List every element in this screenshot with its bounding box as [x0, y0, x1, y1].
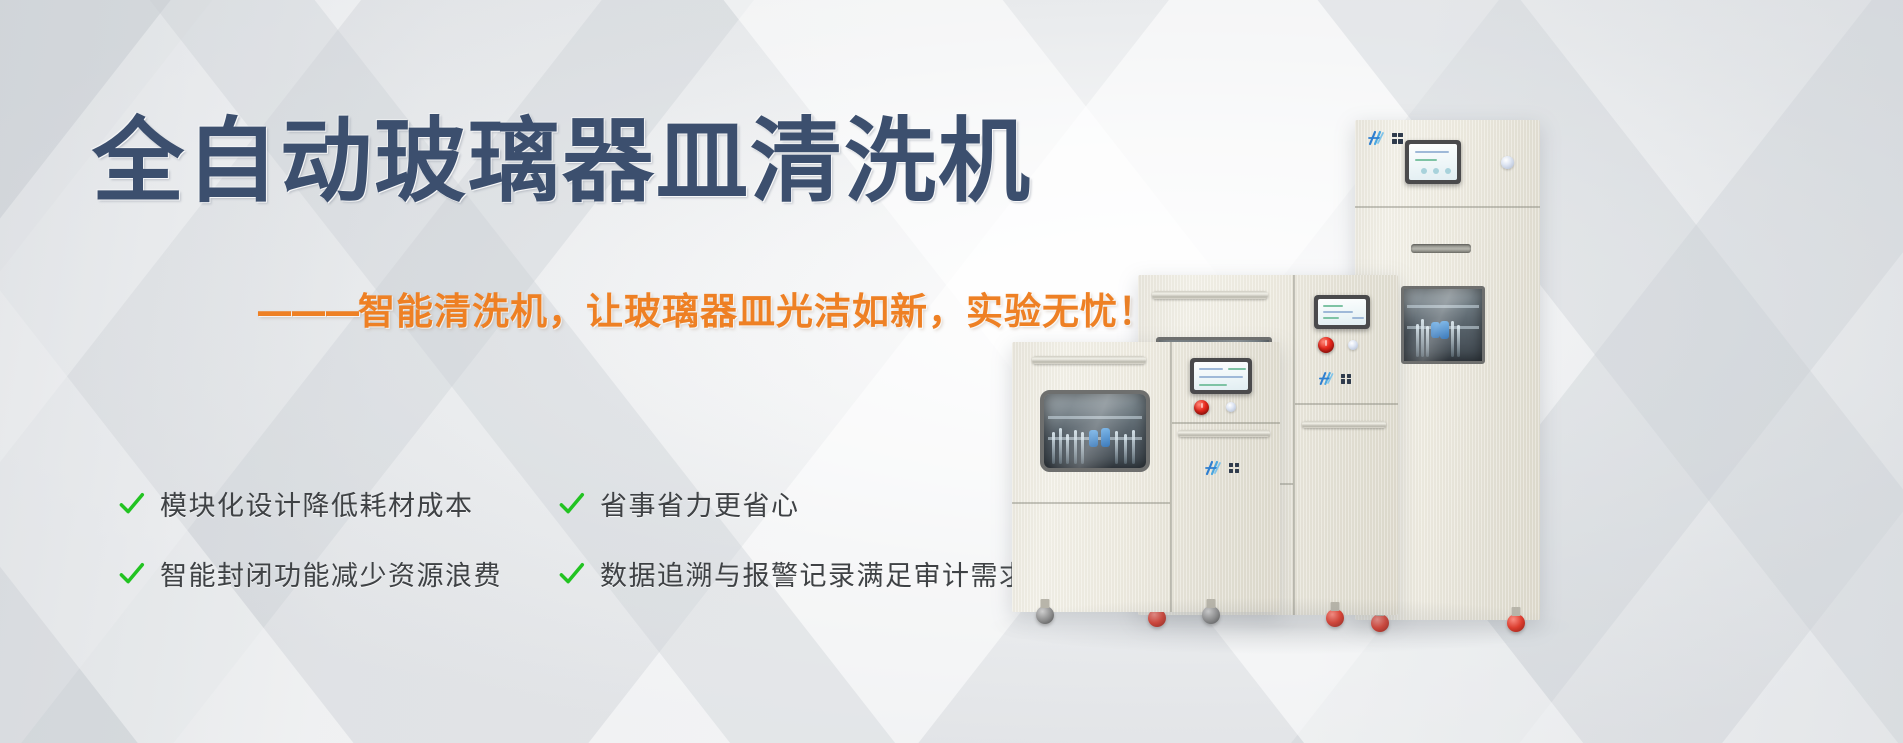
check-icon — [118, 560, 145, 587]
feature-label-2: 省事省力更省心 — [600, 484, 800, 523]
feature-label-4: 数据追溯与报警记录满足审计需求 — [600, 554, 1028, 593]
emergency-stop-button[interactable] — [1194, 400, 1209, 415]
indicator-button[interactable] — [1501, 156, 1514, 169]
logo-wordmark — [1229, 463, 1239, 473]
subtitle-text: 智能清洗机，让玻璃器皿光洁如新，实验无忧！ — [358, 290, 1156, 333]
logo-wordmark — [1392, 133, 1403, 144]
control-touchscreen[interactable] — [1190, 358, 1252, 394]
door-handle[interactable] — [1032, 356, 1146, 364]
check-icon — [558, 560, 585, 587]
product-benchtop-glassware-washer — [1012, 342, 1280, 612]
feature-label-3: 智能封闭功能减少资源浪费 — [160, 554, 502, 593]
page-title: 全自动玻璃器皿清洗机 — [92, 112, 1032, 211]
brand-h-logo — [1204, 460, 1239, 476]
lower-door-handle[interactable] — [1302, 421, 1386, 428]
feature-item-1: 模块化设计降低耗材成本 — [118, 484, 558, 523]
brand-h-logo — [1318, 371, 1351, 386]
door-handle[interactable] — [1152, 291, 1268, 299]
control-touchscreen[interactable] — [1314, 295, 1370, 329]
logo-wordmark — [1341, 374, 1351, 384]
feature-item-4: 数据追溯与报警记录满足审计需求 — [558, 554, 1028, 593]
lower-door-handle[interactable] — [1178, 430, 1270, 437]
product-image-group — [1100, 120, 1900, 680]
feature-label-1: 模块化设计降低耗材成本 — [160, 484, 474, 523]
floor-shadow — [990, 598, 1570, 654]
feature-item-2: 省事省力更省心 — [558, 484, 1028, 523]
emergency-stop-button[interactable] — [1318, 337, 1334, 353]
page-subtitle: ———智能清洗机，让玻璃器皿光洁如新，实验无忧！ — [256, 291, 1156, 334]
indicator-button[interactable] — [1226, 402, 1236, 412]
indicator-button[interactable] — [1348, 340, 1358, 350]
brand-h-logo — [1367, 130, 1403, 146]
feature-list: 模块化设计降低耗材成本 省事省力更省心 智能封闭功能减少资源浪费 数据追溯与报警… — [118, 468, 1028, 608]
promo-banner: 全自动玻璃器皿清洗机 ———智能清洗机，让玻璃器皿光洁如新，实验无忧！ 模块化设… — [0, 0, 1903, 743]
viewing-window — [1040, 390, 1150, 472]
check-icon — [118, 490, 145, 517]
subtitle-dash: ——— — [256, 290, 358, 333]
viewing-window — [1401, 286, 1485, 364]
check-icon — [558, 490, 585, 517]
control-touchscreen[interactable] — [1405, 140, 1461, 184]
feature-item-3: 智能封闭功能减少资源浪费 — [118, 554, 558, 593]
door-handle-slot[interactable] — [1411, 244, 1471, 253]
